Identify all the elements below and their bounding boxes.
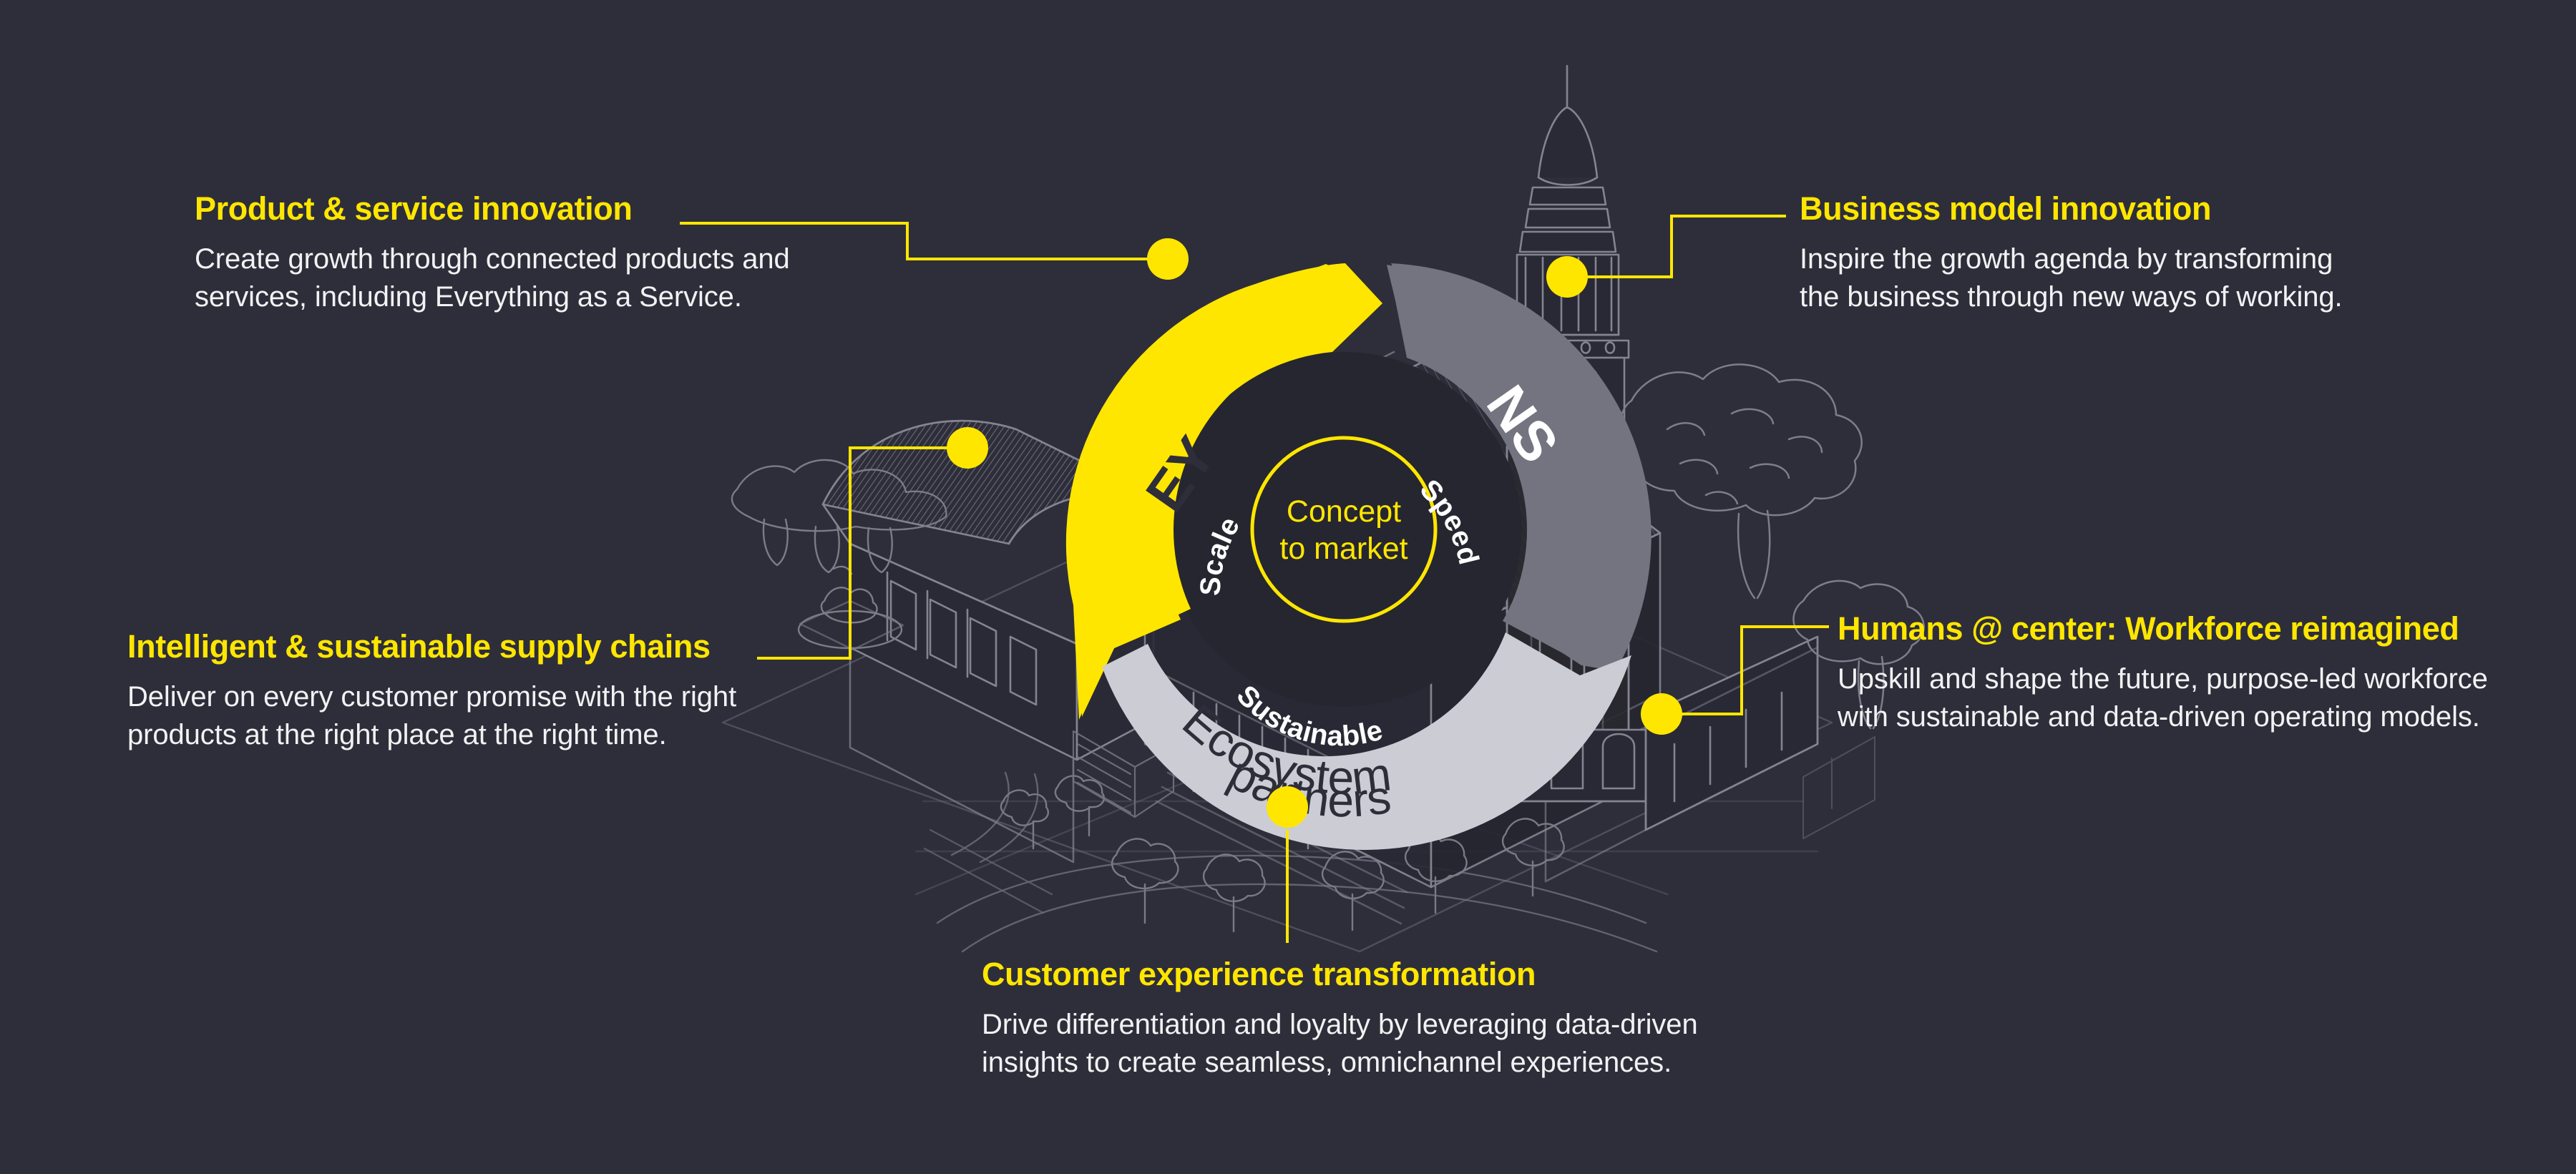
connector-supply (757, 448, 952, 658)
callout-title: Customer experience transformation (982, 957, 1698, 992)
connector-dot-product (1147, 238, 1189, 280)
callout-intelligent-sustainable-supply-chains: Intelligent & sustainable supply chains … (127, 630, 736, 754)
callout-body-line: Deliver on every customer promise with t… (127, 678, 736, 716)
callout-title: Humans @ center: Workforce reimagined (1838, 612, 2488, 646)
callout-body-line: the business through new ways of working… (1800, 278, 2343, 316)
callout-body: Drive differentiation and loyalty by lev… (982, 1006, 1698, 1082)
callout-body: Upskill and shape the future, purpose-le… (1838, 660, 2488, 736)
callout-body-line: Drive differentiation and loyalty by lev… (982, 1006, 1698, 1044)
callout-body-line: Upskill and shape the future, purpose-le… (1838, 660, 2488, 698)
connector-dot-humans (1641, 693, 1682, 735)
infographic-canvas: Scale Speed Sustainable EY NS Ecosystem … (0, 0, 2576, 1174)
connector-dot-customer (1267, 786, 1308, 828)
connector-dot-business (1546, 256, 1588, 298)
callout-product-service-innovation: Product & service innovation Create grow… (195, 192, 790, 316)
callout-body-line: products at the right place at the right… (127, 716, 736, 754)
callout-humans-at-center-workforce-reimagined: Humans @ center: Workforce reimagined Up… (1838, 612, 2488, 736)
connector-humans (1679, 627, 1829, 714)
connector-dot-supply (947, 427, 988, 469)
callout-body: Inspire the growth agenda by transformin… (1800, 240, 2343, 316)
callout-title: Intelligent & sustainable supply chains (127, 630, 736, 664)
callout-business-model-innovation: Business model innovation Inspire the gr… (1800, 192, 2343, 316)
connector-business (1584, 216, 1786, 277)
callout-body: Create growth through connected products… (195, 240, 790, 316)
callout-body-line: services, including Everything as a Serv… (195, 278, 790, 316)
callout-customer-experience-transformation: Customer experience transformation Drive… (982, 957, 1698, 1082)
callout-body-line: with sustainable and data-driven operati… (1838, 698, 2488, 736)
callout-title: Product & service innovation (195, 192, 790, 226)
callout-body: Deliver on every customer promise with t… (127, 678, 736, 754)
callout-body-line: Inspire the growth agenda by transformin… (1800, 240, 2343, 278)
callout-title: Business model innovation (1800, 192, 2343, 226)
callout-body-line: insights to create seamless, omnichannel… (982, 1044, 1698, 1082)
callout-body-line: Create growth through connected products… (195, 240, 790, 278)
